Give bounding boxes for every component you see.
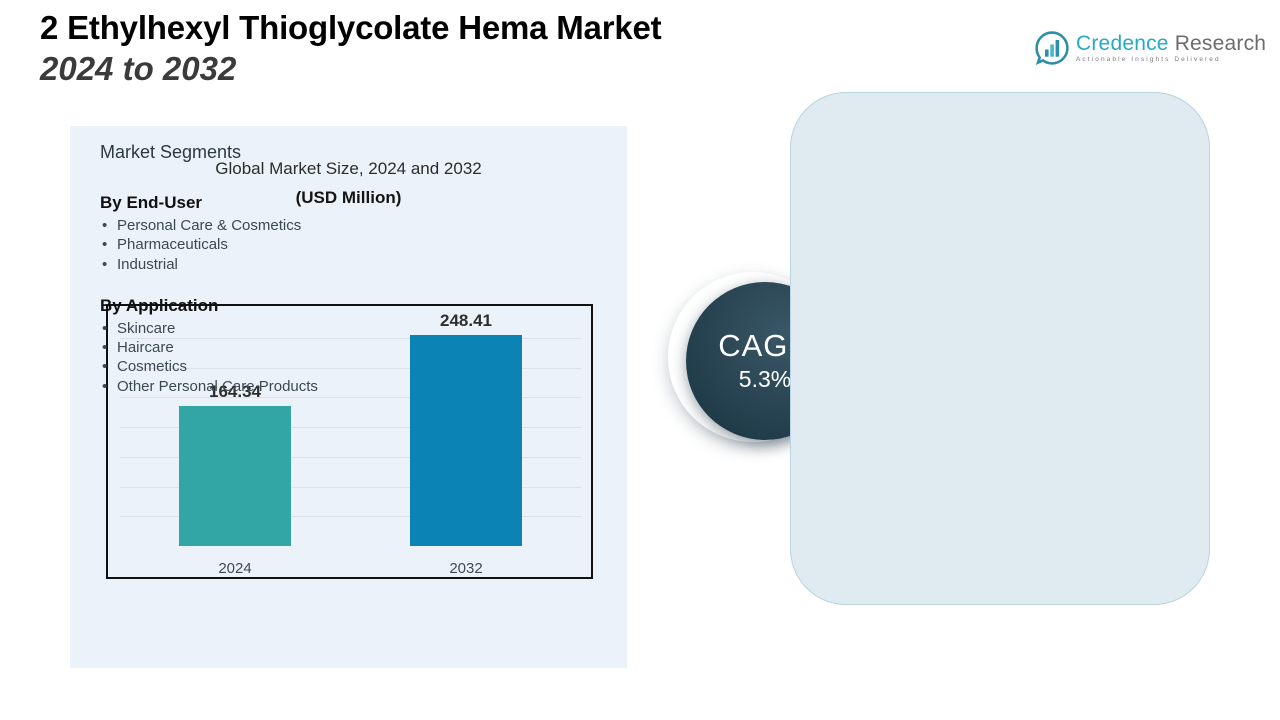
page-title-line-2: 2024 to 2032 [40,48,940,90]
segment-list-item: Pharmaceuticals [100,235,400,254]
logo-text: Credence Research Actionable Insights De… [1076,33,1266,64]
segment-list-item: Personal Care & Cosmetics [100,216,400,235]
market-segments-panel [790,92,1210,605]
category-label-2024: 2024 [179,560,291,577]
bar-2032 [410,335,522,546]
bar-value-2032: 248.41 [410,311,522,331]
logo-name: Credence Research [1076,33,1266,54]
segment-list: SkincareHaircareCosmeticsOther Personal … [100,319,400,396]
segment-list: Personal Care & CosmeticsPharmaceuticals… [100,216,400,274]
logo-tagline: Actionable Insights Delivered [1076,57,1266,64]
credence-bar-chart-bubble-icon [1035,31,1069,65]
segment-groups: By End-UserPersonal Care & CosmeticsPhar… [100,193,400,396]
cagr-value: 5.3% [739,365,791,393]
segment-list-item: Skincare [100,319,400,338]
market-segments-content: Market Segments By End-UserPersonal Care… [100,142,400,418]
category-label-2032: 2032 [410,560,522,577]
page-title-line-1: 2 Ethylhexyl Thioglycolate Hema Market [40,8,940,48]
page-title: 2 Ethylhexyl Thioglycolate Hema Market 2… [40,8,940,90]
logo-name-part1: Credence [1076,32,1169,55]
credence-research-logo: Credence Research Actionable Insights De… [1035,26,1255,70]
logo-name-part2: Research [1169,32,1267,55]
market-segments-heading: Market Segments [100,142,400,163]
segment-group-title: By End-User [100,193,400,213]
segment-group-title: By Application [100,296,400,316]
segment-list-item: Cosmetics [100,357,400,376]
segment-list-item: Other Personal Care Products [100,377,400,396]
segment-list-item: Haircare [100,338,400,357]
bar-2024 [179,406,291,546]
segment-list-item: Industrial [100,255,400,274]
